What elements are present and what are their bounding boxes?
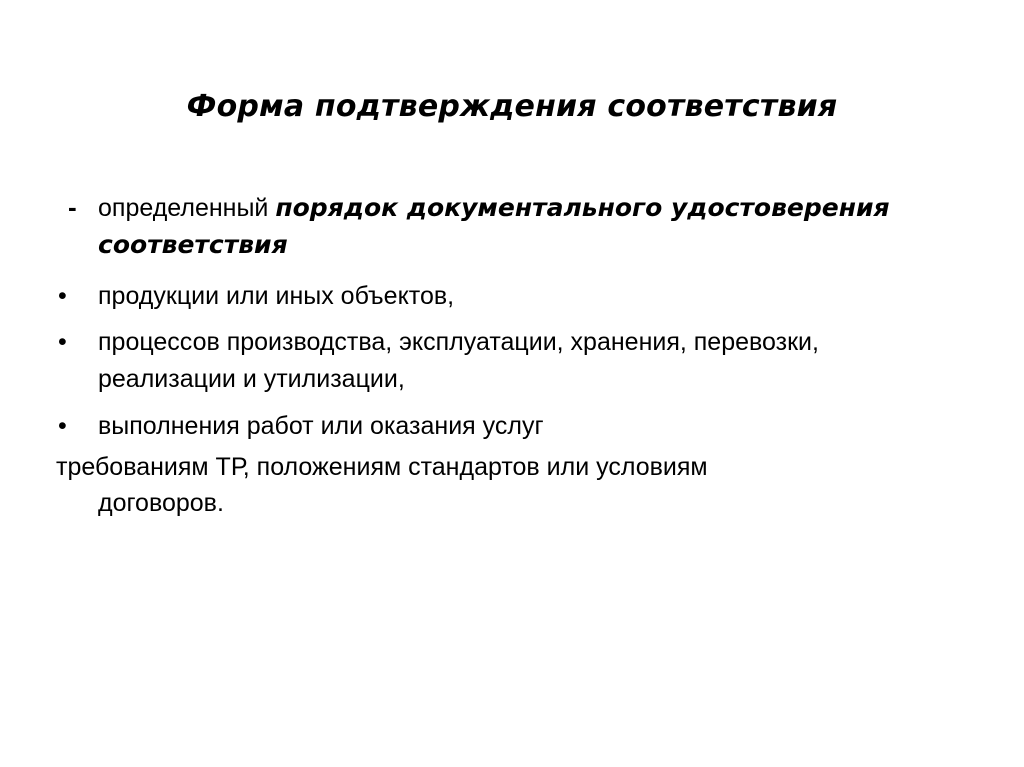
- list-item-text: выполнения работ или оказания услуг: [98, 412, 544, 440]
- list-item-text-regular: определенный: [98, 194, 268, 222]
- closing-paragraph-line-1: требованиям ТР, положениям стандартов ил…: [56, 449, 956, 486]
- dash-bullet-icon: -: [68, 190, 102, 225]
- list-item: - определенный порядок документального у…: [56, 190, 956, 264]
- slide-canvas: Форма подтверждения соответствия - опред…: [0, 0, 1024, 767]
- list-item-text: определенный порядок документального удо…: [98, 194, 890, 259]
- dot-bullet-icon: •: [58, 324, 92, 360]
- closing-paragraph: требованиям ТР, положениям стандартов ил…: [56, 449, 956, 523]
- dot-bullet-icon: •: [58, 408, 92, 444]
- content-body: - определенный порядок документального у…: [56, 190, 956, 522]
- list-item-text: продукции или иных объектов,: [98, 282, 454, 310]
- list-item: • продукции или иных объектов,: [56, 278, 956, 315]
- closing-paragraph-line-2: договоров.: [56, 485, 956, 522]
- list-item: • процессов производства, эксплуатации, …: [56, 324, 956, 398]
- list-item-text: процессов производства, эксплуатации, хр…: [98, 328, 819, 393]
- dot-bullet-icon: •: [58, 278, 92, 314]
- list-item: • выполнения работ или оказания услуг: [56, 408, 956, 445]
- page-title: Форма подтверждения соответствия: [0, 90, 1024, 125]
